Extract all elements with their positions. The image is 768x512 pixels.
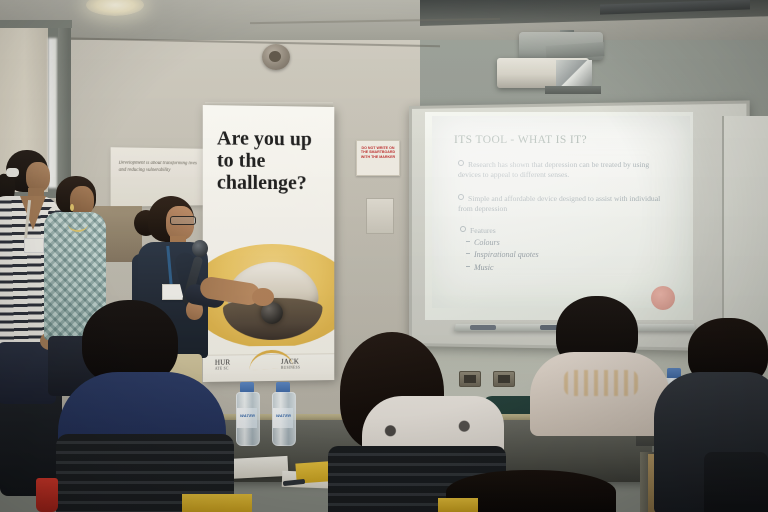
- yellow-folder[interactable]: [182, 494, 252, 512]
- dash-marker-icon: [466, 266, 470, 267]
- dash-marker-icon: [466, 253, 470, 254]
- banner-headline: Are you up to the challenge?: [217, 127, 328, 194]
- banner-logo-right: JACK BUSINESS: [281, 358, 300, 370]
- banner-logo-right-sub: BUSINESS: [281, 366, 300, 370]
- slide-feature-2: Inspirational quotes: [466, 250, 539, 259]
- reaching-hand: [252, 288, 274, 306]
- slide-features-text: Features: [470, 226, 496, 235]
- warning-sign-text: DO NOT WRITE ON THE SMARTBOARD WITH THE …: [359, 146, 397, 159]
- slide-feature-3: Music: [466, 263, 494, 272]
- wall-switch-plate[interactable]: [366, 198, 394, 234]
- slide-feature-2-text: Inspirational quotes: [474, 250, 539, 259]
- window-header: [0, 20, 72, 28]
- dash-marker-icon: [466, 241, 470, 242]
- hair-tie: [6, 168, 19, 177]
- slide-feature-3-text: Music: [474, 263, 494, 272]
- banner-logo-right-text: JACK: [281, 358, 299, 366]
- whiteboard-right-panel[interactable]: [722, 116, 768, 340]
- bottle-label-text: WATER: [276, 413, 291, 418]
- slide-bullet-2: Simple and affordable device designed to…: [458, 194, 666, 213]
- whiteboard-marker[interactable]: [470, 325, 496, 330]
- projected-slide: ITS TOOL - WHAT IS IT? Research has show…: [432, 116, 690, 308]
- earring-icon: [70, 204, 74, 211]
- shirt-motif: [564, 370, 638, 396]
- bottle-label: WATER: [237, 408, 257, 428]
- classroom-scene: ITS TOOL - WHAT IS IT? Research has show…: [0, 0, 768, 512]
- slide-bullet-1: Research has shown that depression can b…: [458, 160, 668, 179]
- warning-sign: DO NOT WRITE ON THE SMARTBOARD WITH THE …: [356, 140, 400, 176]
- projector-bracket: [545, 86, 601, 94]
- slide-feature-1: Colours: [466, 238, 500, 247]
- necklace-icon: [68, 216, 88, 232]
- seated-person-cream-top: [528, 296, 674, 430]
- glasses-icon: [170, 216, 196, 225]
- microphone-icon[interactable]: [192, 240, 208, 257]
- bullet-marker-icon: [458, 160, 464, 166]
- smoke-detector-icon: [262, 44, 290, 70]
- slide-title: ITS TOOL - WHAT IS IT?: [454, 134, 587, 146]
- bottle-label: WATER: [273, 408, 293, 428]
- slide-bullet-2-text: Simple and affordable device designed to…: [458, 194, 660, 213]
- slide-bullet-1-text: Research has shown that depression can b…: [458, 160, 649, 179]
- bullet-marker-icon: [460, 226, 466, 232]
- name-badge: [24, 238, 44, 253]
- slide-feature-1-text: Colours: [474, 238, 500, 247]
- water-bottle[interactable]: WATER: [272, 382, 294, 444]
- water-bottle[interactable]: WATER: [236, 382, 258, 444]
- slide-features-label: Features: [460, 226, 496, 236]
- yellow-folder[interactable]: [438, 498, 478, 512]
- wall-poster-text: Development is about transforming lives …: [119, 160, 201, 174]
- bullet-marker-icon: [458, 194, 464, 200]
- chair[interactable]: [704, 452, 768, 512]
- bottle-label-text: WATER: [240, 413, 255, 418]
- red-cup[interactable]: [36, 478, 58, 512]
- projector-lens-icon: [556, 60, 592, 88]
